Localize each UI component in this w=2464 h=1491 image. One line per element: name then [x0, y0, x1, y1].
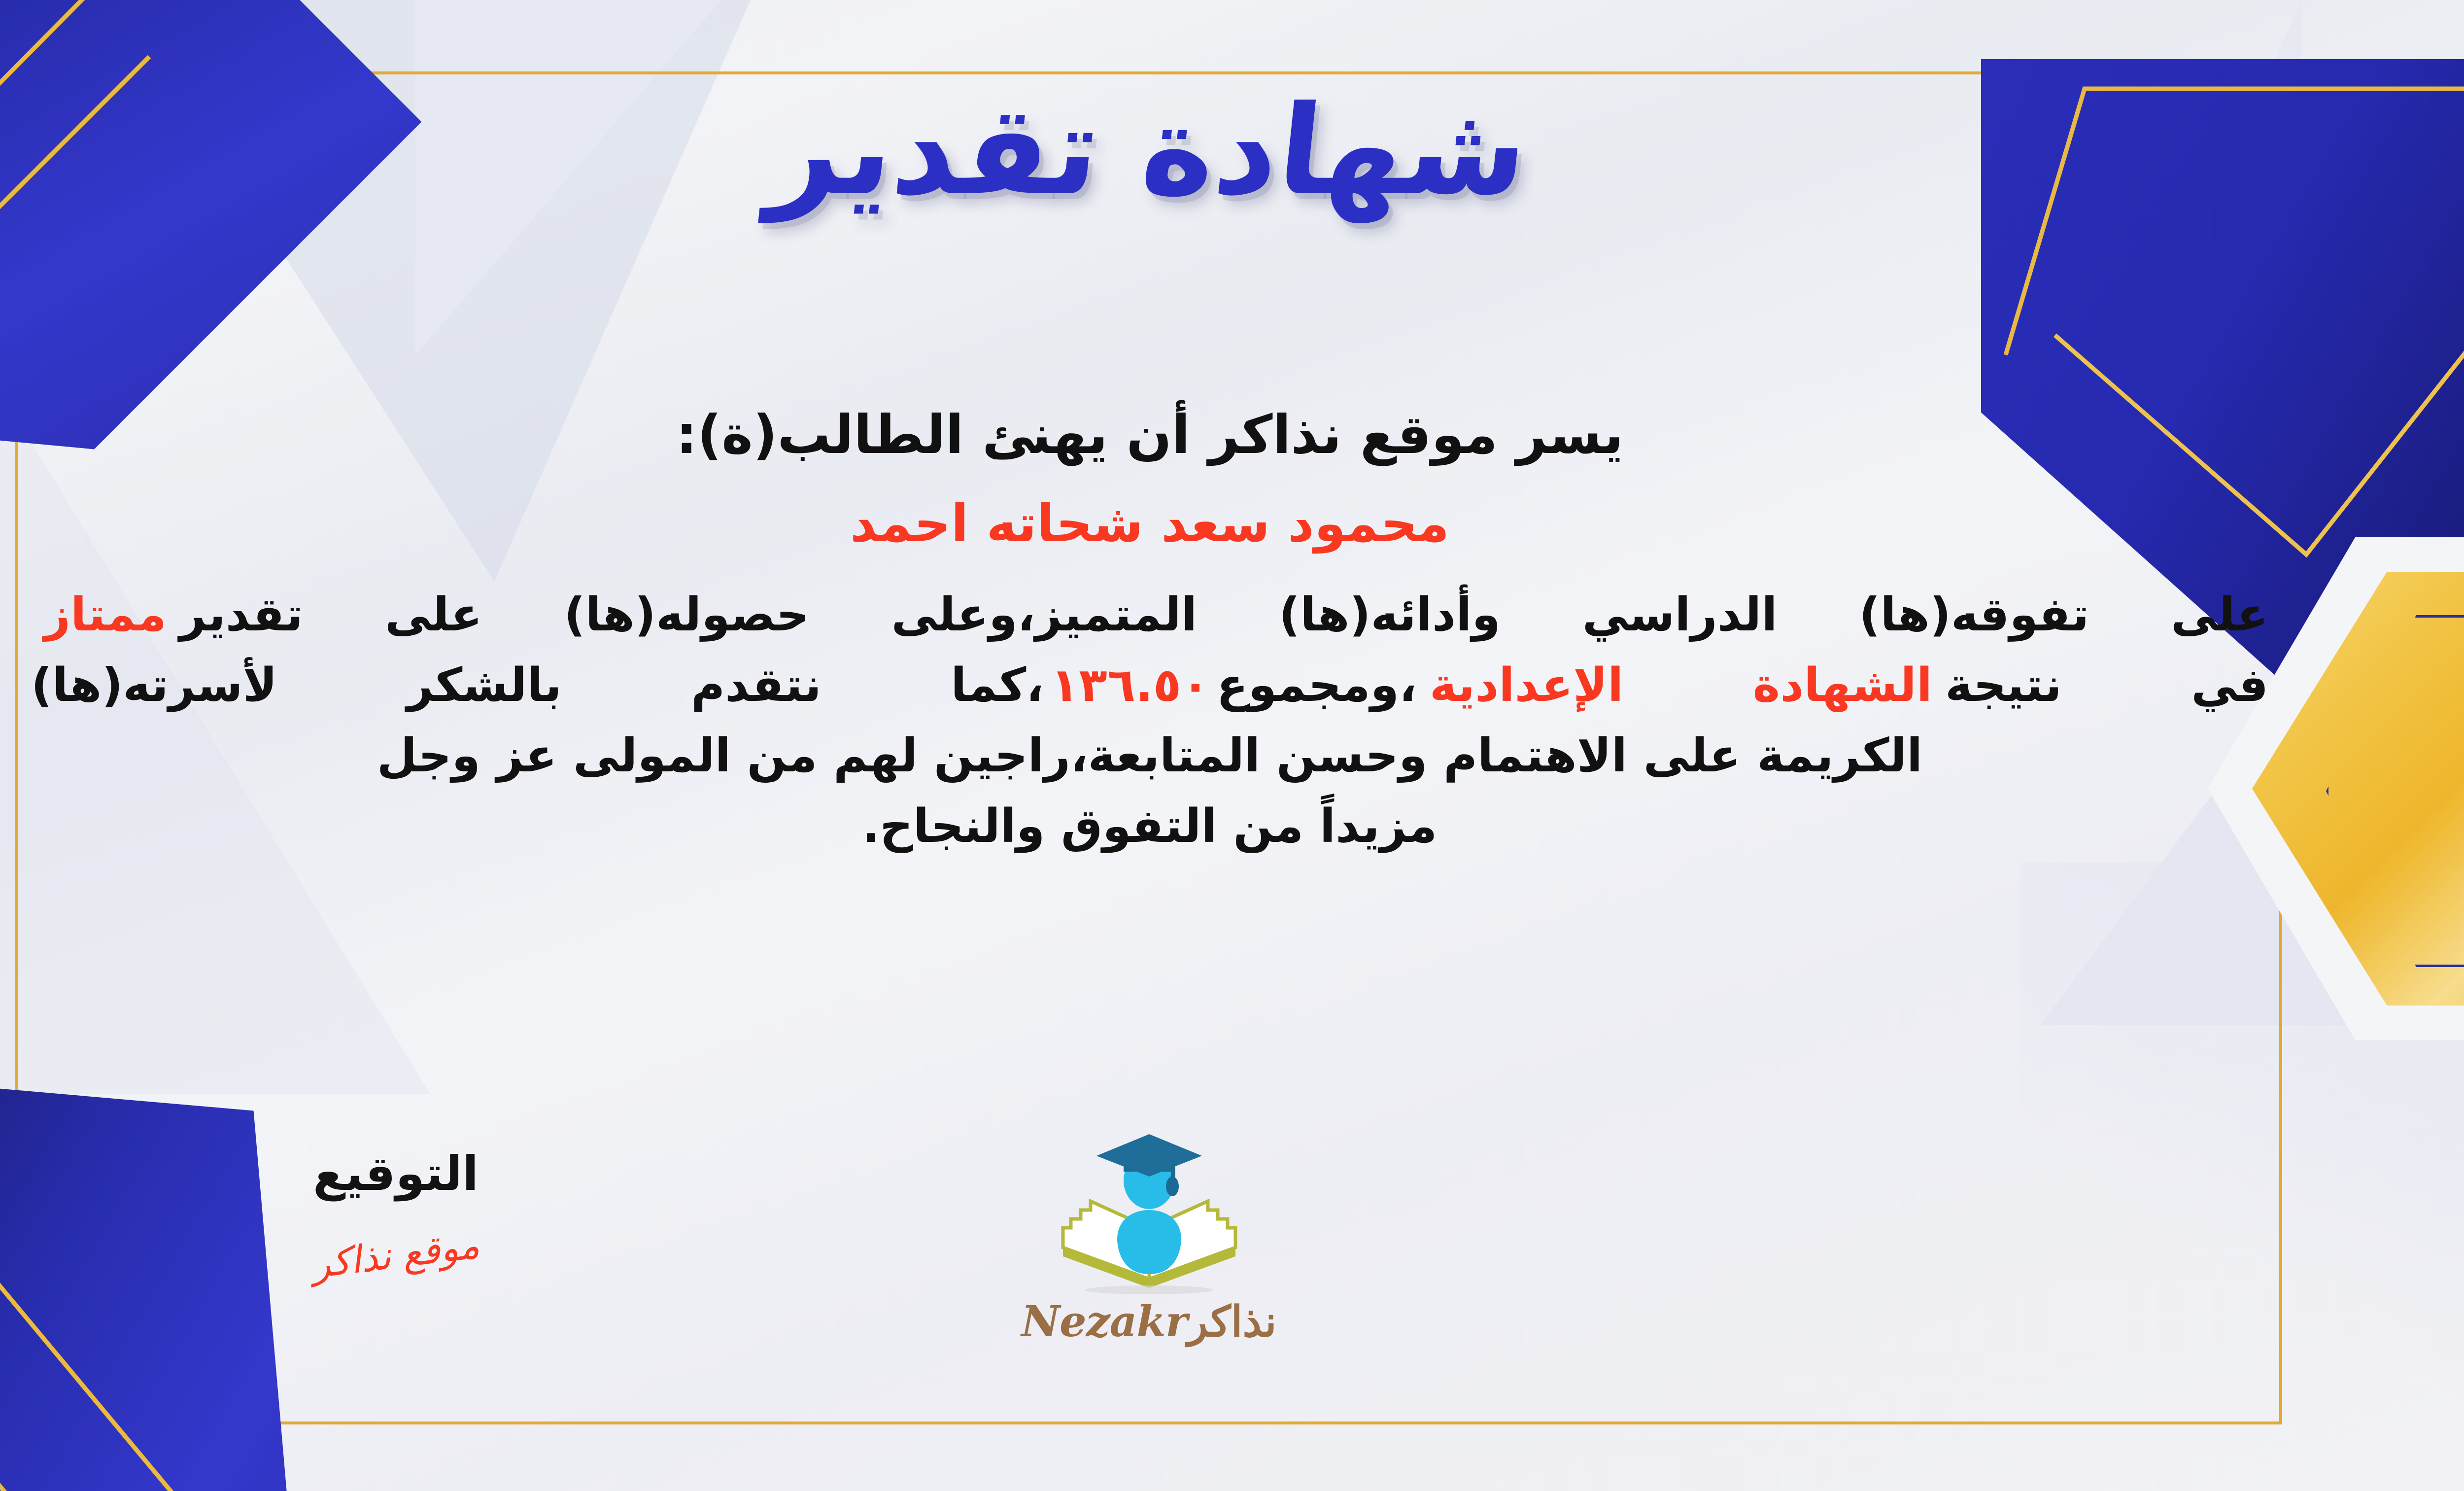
page-title: شهادة تقدير — [764, 86, 1534, 216]
exam-name: الشهادة الإعدادية — [1417, 659, 1945, 712]
body-line-1-text: على تفوقه(ها) الدراسي وأدائه(ها) المتميز… — [179, 588, 2268, 642]
body-line-2-suffix: ،كما نتقدم بالشكر لأسرته(ها) — [31, 659, 1044, 712]
body-line-1: على تفوقه(ها) الدراسي وأدائه(ها) المتميز… — [11, 580, 2288, 651]
graduate-on-book-icon — [1043, 1131, 1255, 1294]
certificate-title-container: شهادة تقدير — [0, 86, 2464, 216]
logo-name-arabic: نذاكر — [1187, 1297, 1276, 1347]
certificate-page: شهادة تقدير يسر موقع نذاكر أن يهنئ الطال… — [0, 0, 2464, 1491]
signature-label: التوقيع — [243, 1146, 548, 1201]
certificate-footer: التوقيع موقع نذاكر — [21, 1131, 2277, 1417]
logo-name-latin: Nezakr — [1021, 1297, 1187, 1347]
body-line-2: في نتيجةالشهادة الإعدادية،ومجموع١٣٦.٥٠،ك… — [11, 651, 2288, 721]
body-line-2-mid: ،ومجموع — [1217, 659, 1417, 712]
body-line-3: الكريمة على الاهتمام وحسن المتابعة،راجين… — [11, 721, 2288, 792]
grade-value: ممتاز — [31, 588, 179, 642]
certificate-body: يسر موقع نذاكر أن يهنئ الطالب(ة): محمود … — [11, 404, 2288, 862]
body-line-2-prefix: في نتيجة — [1945, 659, 2268, 712]
intro-line: يسر موقع نذاكر أن يهنئ الطالب(ة): — [11, 404, 2288, 466]
site-logo: نذاكرNezakr — [992, 1131, 1307, 1347]
signature-mark: موقع نذاكر — [309, 1223, 481, 1287]
student-name: محمود سعد شحاته احمد — [11, 493, 2288, 554]
signature-block: التوقيع موقع نذاكر — [243, 1146, 548, 1277]
body-line-4: مزيداً من التفوق والنجاح. — [11, 792, 2288, 862]
logo-wordmark: نذاكرNezakr — [992, 1297, 1307, 1347]
total-score: ١٣٦.٥٠ — [1044, 659, 1217, 712]
